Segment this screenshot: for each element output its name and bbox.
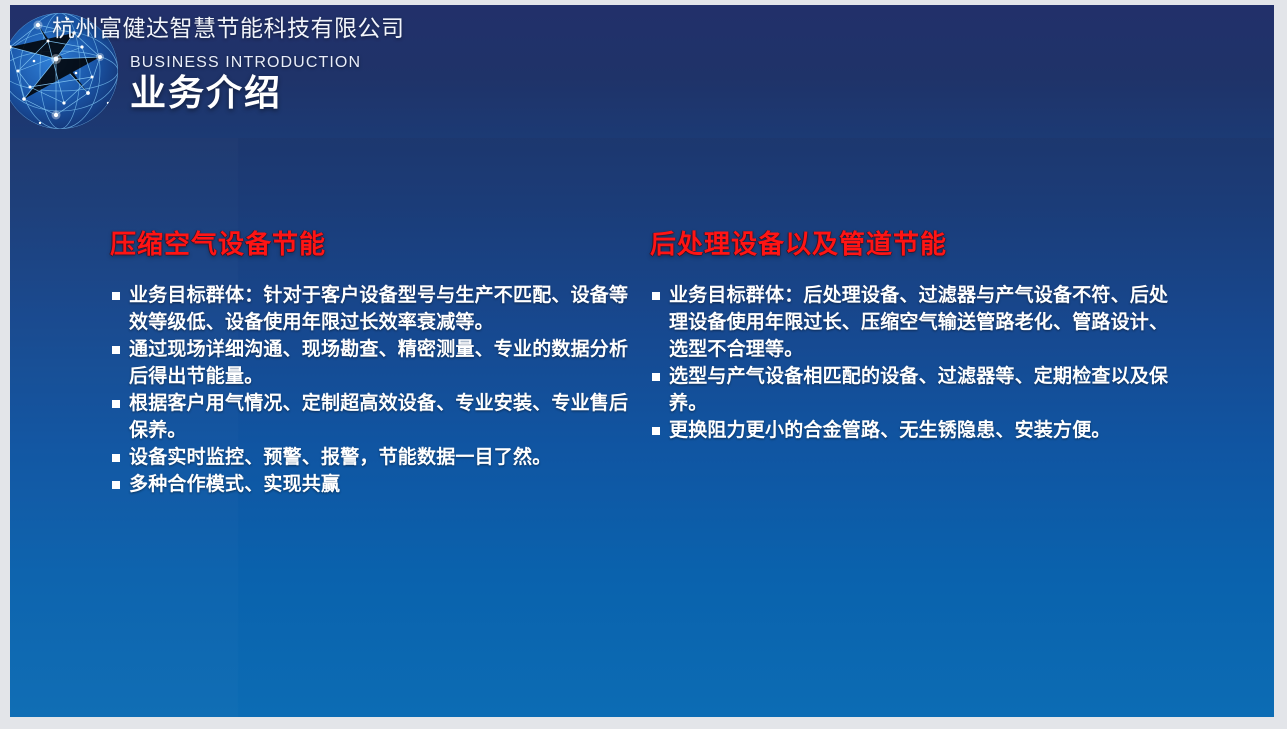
column-post-treatment: 后处理设备以及管道节能 业务目标群体：后处理设备、过滤器与产气设备不符、后处理设… (650, 230, 1170, 444)
list-item: 多种合作模式、实现共赢 (110, 471, 630, 498)
list-item: 根据客户用气情况、定制超高效设备、专业安装、专业售后保养。 (110, 390, 630, 444)
company-name: 杭州富健达智慧节能科技有限公司 (52, 17, 405, 40)
list-item: 更换阻力更小的合金管路、无生锈隐患、安装方便。 (650, 417, 1170, 444)
column-title: 压缩空气设备节能 (110, 230, 630, 260)
bullet-list: 业务目标群体：针对于客户设备型号与生产不匹配、设备等效等级低、设备使用年限过长效… (110, 282, 630, 498)
column-title: 后处理设备以及管道节能 (650, 230, 1170, 260)
page-title: 业务介绍 (130, 75, 282, 111)
slide-header: 杭州富健达智慧节能科技有限公司 BUSINESS INTRODUCTION 业务… (10, 5, 1274, 138)
list-item: 业务目标群体：后处理设备、过滤器与产气设备不符、后处理设备使用年限过长、压缩空气… (650, 282, 1170, 363)
list-item: 业务目标群体：针对于客户设备型号与生产不匹配、设备等效等级低、设备使用年限过长效… (110, 282, 630, 336)
slide-canvas: 杭州富健达智慧节能科技有限公司 BUSINESS INTRODUCTION 业务… (10, 5, 1274, 717)
list-item: 选型与产气设备相匹配的设备、过滤器等、定期检查以及保养。 (650, 363, 1170, 417)
slide-frame: 杭州富健达智慧节能科技有限公司 BUSINESS INTRODUCTION 业务… (0, 0, 1287, 729)
header-subtitle-en: BUSINESS INTRODUCTION (130, 55, 361, 71)
content-columns: 压缩空气设备节能 业务目标群体：针对于客户设备型号与生产不匹配、设备等效等级低、… (10, 230, 1274, 560)
bullet-list: 业务目标群体：后处理设备、过滤器与产气设备不符、后处理设备使用年限过长、压缩空气… (650, 282, 1170, 444)
list-item: 通过现场详细沟通、现场勘查、精密测量、专业的数据分析后得出节能量。 (110, 336, 630, 390)
column-compressed-air: 压缩空气设备节能 业务目标群体：针对于客户设备型号与生产不匹配、设备等效等级低、… (110, 230, 630, 498)
list-item: 设备实时监控、预警、报警，节能数据一目了然。 (110, 444, 630, 471)
